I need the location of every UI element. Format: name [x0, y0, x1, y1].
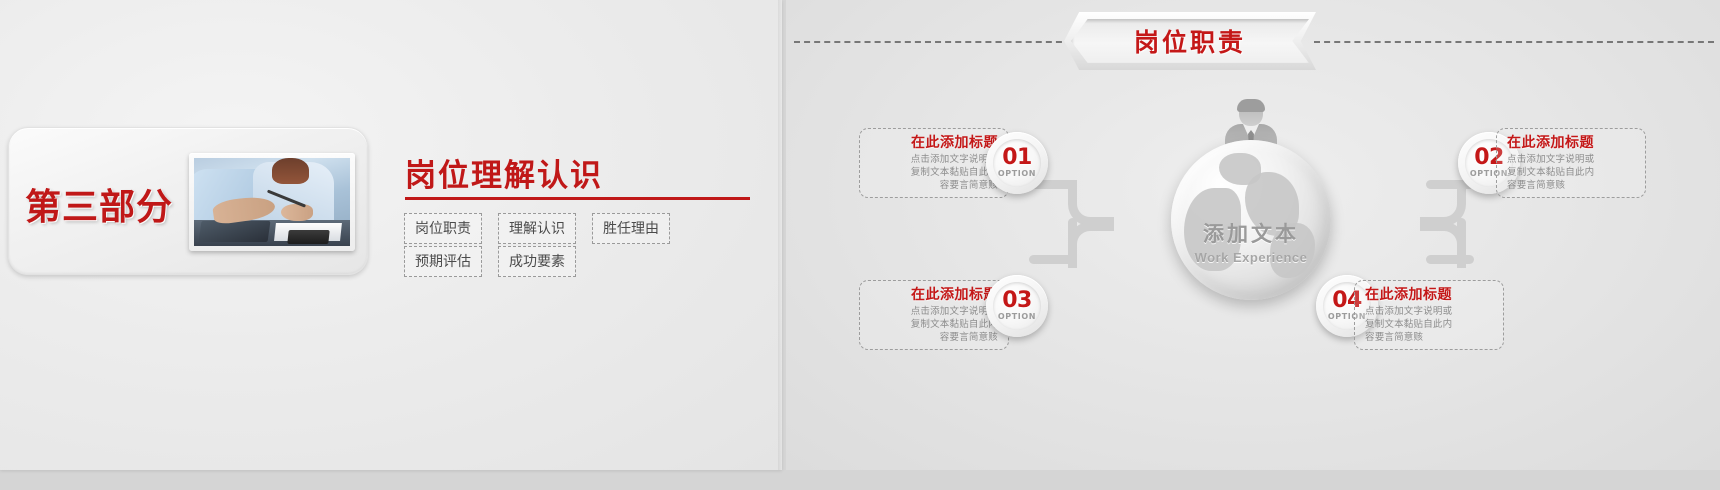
option-label-01: OPTION [998, 169, 1036, 178]
center-title: 添加文本 [1171, 218, 1331, 248]
option-body-02: 点击添加文字说明或复制文本黏贴自此内容要言简意赅 [1507, 154, 1635, 192]
job-duties-slide: 岗位职责 [786, 0, 1720, 470]
globe-label-group: 添加文本 Work Experience [1171, 218, 1331, 265]
option-title-03: 在此添加标题 [870, 288, 998, 303]
option-number-03: 03 [1002, 291, 1032, 311]
option-title-01: 在此添加标题 [870, 136, 998, 151]
tag-yuqi-pinggu[interactable]: 预期评估 [404, 246, 482, 277]
banner-title: 岗位职责 [1064, 12, 1316, 70]
pipe-right-bottom-h [1426, 255, 1474, 264]
option-title-04: 在此添加标题 [1365, 288, 1493, 303]
photo-frame [189, 153, 355, 251]
page-title: 岗位理解认识 [405, 150, 603, 195]
option-badge-01[interactable]: 01 OPTION [986, 132, 1048, 194]
option-label-03: OPTION [998, 312, 1036, 321]
section-plate: 第三部分 [8, 127, 368, 275]
option-body-04: 点击添加文字说明或复制文本黏贴自此内容要言简意赅 [1365, 306, 1493, 344]
option-box-04[interactable]: 在此添加标题 点击添加文字说明或复制文本黏贴自此内容要言简意赅 [1354, 280, 1504, 350]
businessman-globe-icon: 添加文本 Work Experience [1151, 100, 1351, 300]
option-number-01: 01 [1002, 148, 1032, 168]
option-body-01: 点击添加文字说明或复制文本黏贴自此内容要言简意赅 [870, 154, 998, 192]
tag-row-2: 预期评估 成功要素 [404, 246, 576, 277]
pipe-left-bottom-h [1029, 255, 1077, 264]
option-title-02: 在此添加标题 [1507, 136, 1635, 151]
section-label: 第三部分 [25, 178, 173, 230]
tag-lijie-renshi[interactable]: 理解认识 [498, 213, 576, 244]
globe-icon: 添加文本 Work Experience [1171, 140, 1331, 300]
banner-dash-left [794, 41, 1072, 43]
slide-pair-canvas: 第三部分 岗位理解认识 岗位职责 理解认识 [0, 0, 1720, 490]
option-box-02[interactable]: 在此添加标题 点击添加文字说明或复制文本黏贴自此内容要言简意赅 [1496, 128, 1646, 198]
center-subtitle: Work Experience [1171, 250, 1331, 265]
banner-dash-right [1314, 41, 1714, 43]
title-underline [405, 197, 750, 200]
tag-chenggong-yaosu[interactable]: 成功要素 [498, 246, 576, 277]
tag-gangwei-zhize[interactable]: 岗位职责 [404, 213, 482, 244]
office-workers-photo [194, 158, 350, 246]
option-body-03: 点击添加文字说明或复制文本黏贴自此内容要言简意赅 [870, 306, 998, 344]
banner-hexagon: 岗位职责 [1064, 12, 1316, 70]
section-divider-slide: 第三部分 岗位理解认识 岗位职责 理解认识 [0, 0, 782, 470]
tag-shengren-liyou[interactable]: 胜任理由 [592, 213, 670, 244]
option-badge-03[interactable]: 03 OPTION [986, 275, 1048, 337]
tag-row-1: 岗位职责 理解认识 胜任理由 [404, 213, 670, 244]
